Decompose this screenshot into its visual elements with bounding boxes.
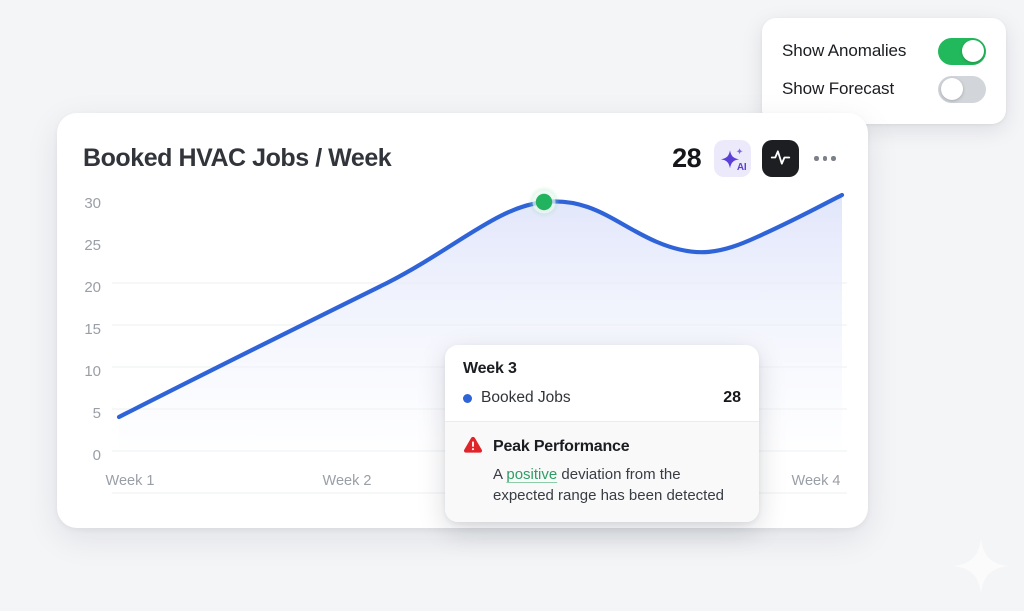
svg-text:30: 30 — [84, 195, 101, 212]
tooltip-alert-text: A positive deviation from the expected r… — [463, 464, 741, 507]
svg-text:Week 1: Week 1 — [106, 473, 155, 489]
chart-controls-panel: Show Anomalies Show Forecast — [762, 18, 1006, 124]
tooltip-alert: Peak Performance A positive deviation fr… — [445, 421, 759, 522]
series-color-dot — [463, 394, 472, 403]
warning-triangle-icon — [463, 435, 483, 459]
svg-text:5: 5 — [93, 405, 101, 422]
card-header: Booked HVAC Jobs / Week 28 AI — [57, 113, 868, 177]
svg-text:25: 25 — [84, 237, 101, 254]
chart-tooltip: Week 3 Booked Jobs 28 — [445, 345, 759, 522]
chart-card: Booked HVAC Jobs / Week 28 AI — [57, 113, 868, 528]
alert-text-before: A — [493, 466, 506, 483]
tooltip-series-name: Booked Jobs — [481, 389, 571, 407]
y-axis-ticks: 30 25 20 15 10 5 0 — [84, 195, 101, 464]
page-title: Booked HVAC Jobs / Week — [83, 144, 391, 173]
control-label-show-anomalies: Show Anomalies — [782, 41, 906, 61]
ai-label: AI — [737, 162, 747, 173]
more-horizontal-icon[interactable] — [812, 146, 838, 172]
chart-plot-area: 30 25 20 15 10 5 0 Week 1 Week 2 — [57, 185, 868, 525]
svg-text:20: 20 — [84, 279, 101, 296]
svg-text:Week 4: Week 4 — [792, 473, 841, 489]
svg-text:0: 0 — [93, 447, 101, 464]
control-row-show-anomalies[interactable]: Show Anomalies — [782, 32, 986, 70]
ai-insights-button[interactable]: AI — [714, 140, 751, 177]
svg-text:15: 15 — [84, 321, 101, 338]
anomaly-marker-week3[interactable] — [528, 186, 560, 218]
tooltip-series-value: 28 — [723, 389, 741, 407]
tooltip-summary: Week 3 Booked Jobs 28 — [445, 345, 759, 421]
control-row-show-forecast[interactable]: Show Forecast — [782, 70, 986, 108]
activity-pulse-icon — [770, 147, 791, 171]
alert-highlight-positive: positive — [506, 466, 557, 483]
toggle-show-anomalies[interactable] — [938, 38, 986, 65]
decorative-sparkle-icon — [950, 535, 1012, 597]
control-label-show-forecast: Show Forecast — [782, 79, 894, 99]
sparkle-ai-icon: AI — [720, 147, 746, 171]
toggle-knob — [941, 78, 963, 100]
tooltip-week-label: Week 3 — [463, 360, 741, 378]
tooltip-alert-title: Peak Performance — [493, 438, 629, 456]
svg-text:Week 2: Week 2 — [323, 473, 372, 489]
tooltip-series-row: Booked Jobs 28 — [463, 389, 741, 407]
toggle-knob — [962, 40, 984, 62]
header-actions: 28 AI — [672, 140, 838, 177]
svg-text:10: 10 — [84, 363, 101, 380]
toggle-show-forecast[interactable] — [938, 76, 986, 103]
activity-pulse-button[interactable] — [762, 140, 799, 177]
current-value: 28 — [672, 143, 701, 174]
